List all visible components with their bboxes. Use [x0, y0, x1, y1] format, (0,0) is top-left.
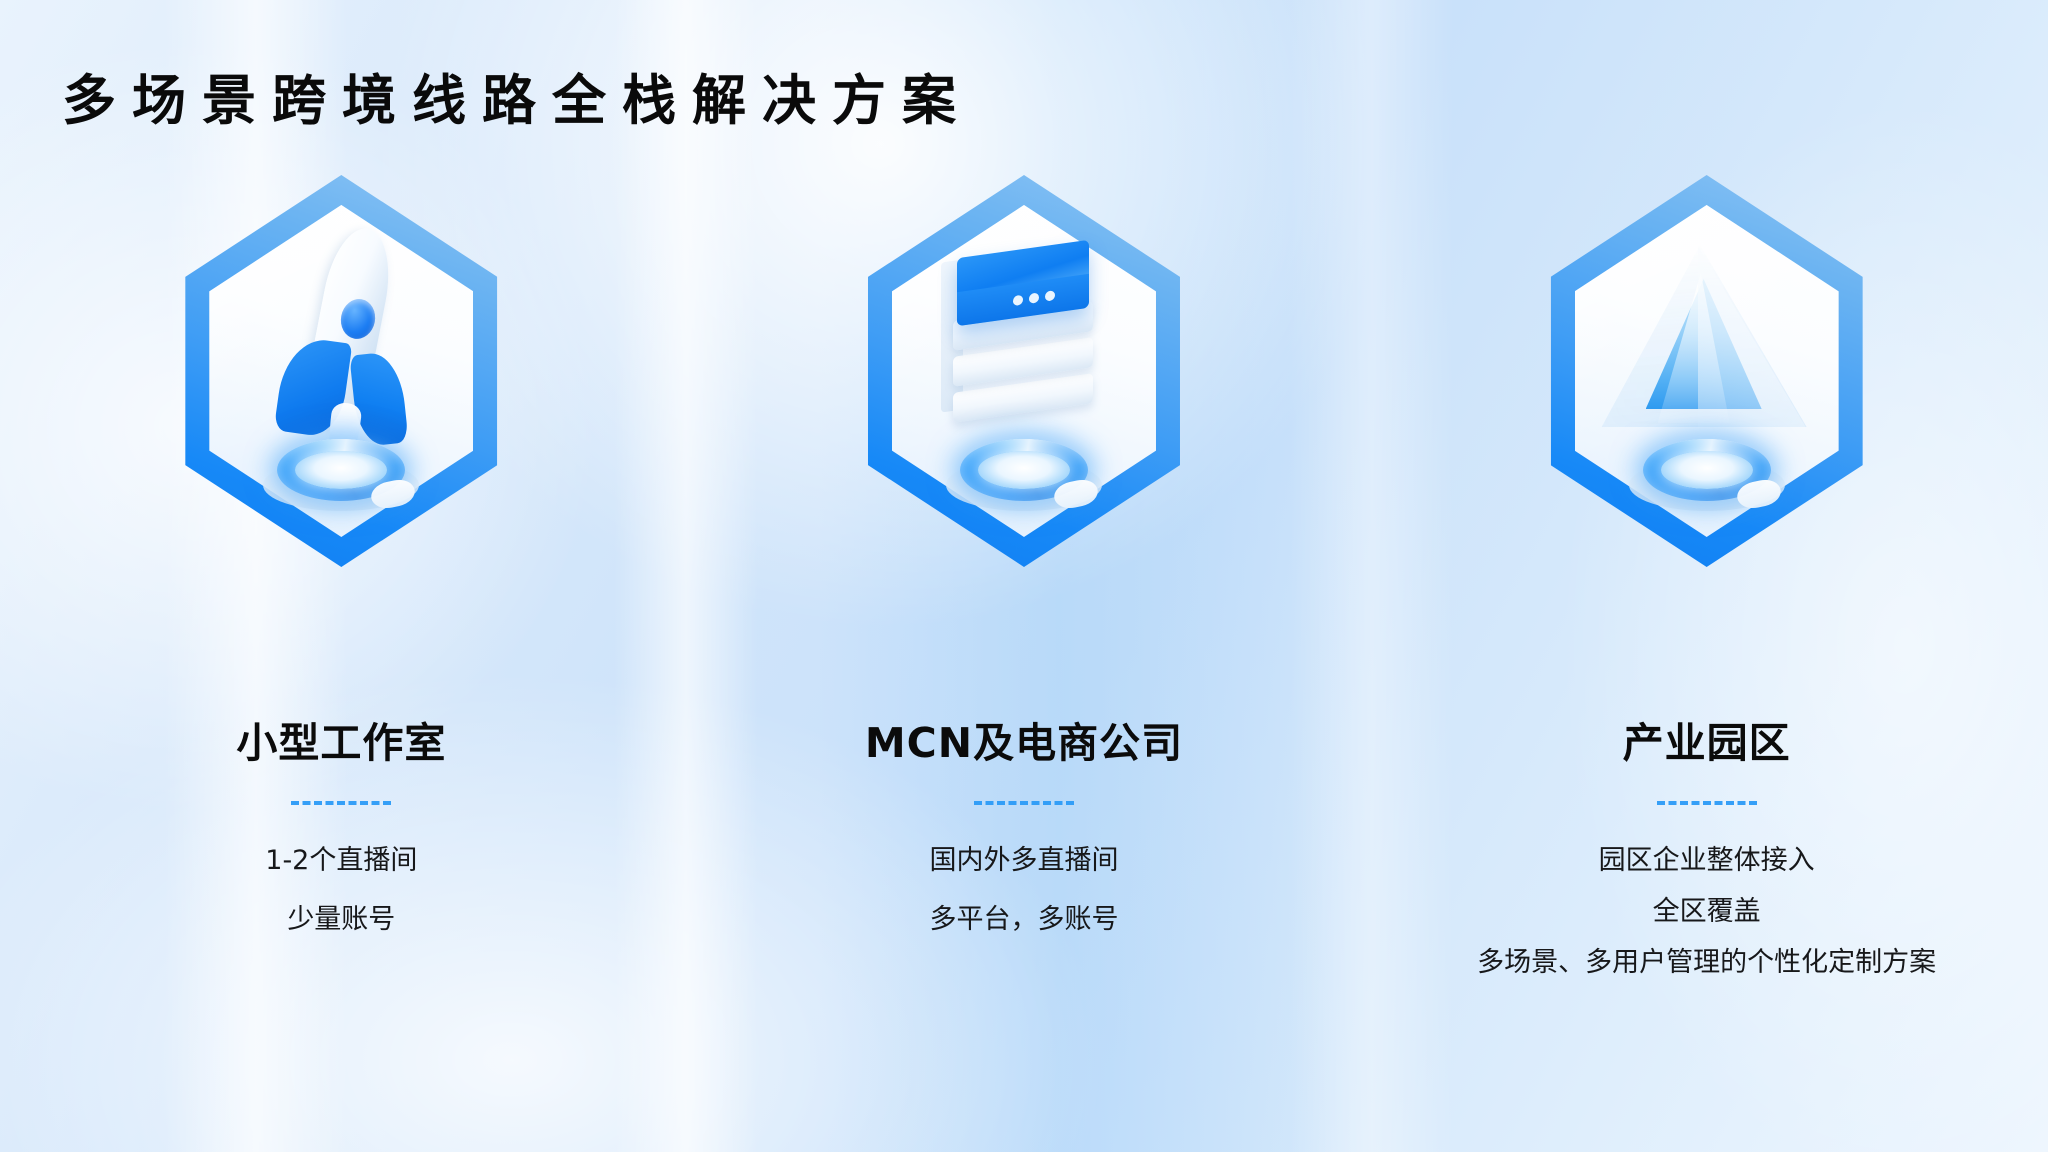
card-description: 国内外多直播间 多平台，多账号	[929, 847, 1118, 933]
scenario-card-small-studio[interactable]: 小型工作室 1-2个直播间 少量账号	[0, 175, 683, 1075]
card-description: 1-2个直播间 少量账号	[265, 847, 417, 933]
dashed-divider	[974, 801, 1074, 805]
hexagon-badge	[185, 175, 497, 567]
hexagon-badge	[1551, 175, 1863, 567]
card-description-line: 全区覆盖	[1477, 898, 1936, 925]
glowing-ring-pedestal	[940, 427, 1108, 513]
card-description: 园区企业整体接入 全区覆盖 多场景、多用户管理的个性化定制方案	[1477, 847, 1936, 1000]
glowing-ring-pedestal	[1623, 427, 1791, 513]
pyramid-icon	[1602, 227, 1812, 447]
card-title: 小型工作室	[236, 709, 446, 769]
card-description-line: 园区企业整体接入	[1477, 847, 1936, 874]
card-title: 产业园区	[1623, 709, 1791, 769]
card-description-line: 多场景、多用户管理的个性化定制方案	[1477, 949, 1936, 976]
card-description-line: 多平台，多账号	[929, 906, 1118, 933]
scenario-card-row: 小型工作室 1-2个直播间 少量账号	[0, 175, 2048, 1075]
page-title: 多场景跨境线路全栈解决方案	[62, 56, 972, 135]
glowing-ring-pedestal	[257, 427, 425, 513]
hexagon-badge	[868, 175, 1180, 567]
scenario-card-industrial-park[interactable]: 产业园区 园区企业整体接入 全区覆盖 多场景、多用户管理的个性化定制方案	[1365, 175, 2048, 1075]
card-description-line: 国内外多直播间	[929, 847, 1118, 874]
card-description-line: 少量账号	[265, 906, 417, 933]
card-title: MCN及电商公司	[865, 709, 1183, 769]
dashed-divider	[1657, 801, 1757, 805]
scenario-card-mcn-ecommerce[interactable]: MCN及电商公司 国内外多直播间 多平台，多账号	[683, 175, 1366, 1075]
card-description-line: 1-2个直播间	[265, 847, 417, 874]
dashed-divider	[291, 801, 391, 805]
